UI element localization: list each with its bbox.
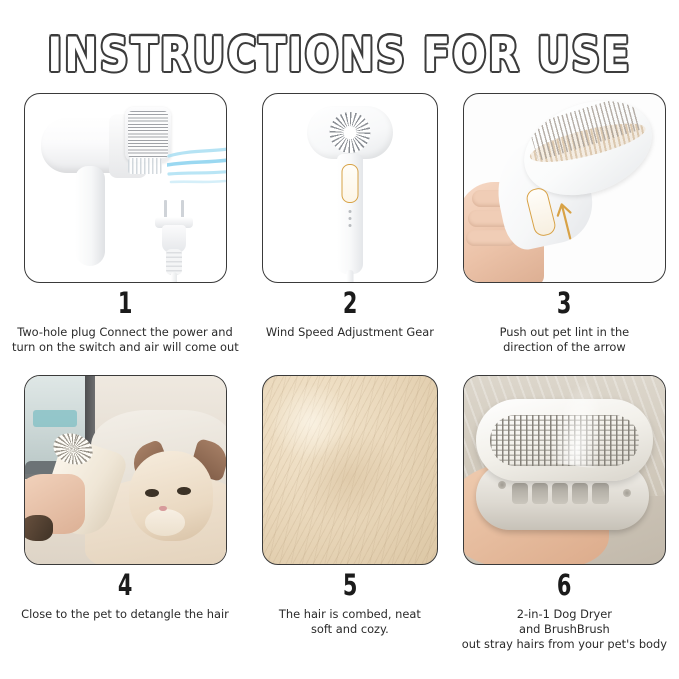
step-1-number: 1 (118, 289, 133, 318)
step-card-3: 3 Push out pet lint in the direction of … (450, 93, 679, 375)
cat-tail-shape (24, 515, 53, 541)
step-card-5: 5 The hair is combed, neat soft and cozy… (250, 375, 450, 657)
air-vent-icon (128, 158, 162, 174)
step-3-caption: Push out pet lint in the direction of th… (500, 325, 630, 355)
step-3-caption-line-1: Push out pet lint in the (500, 325, 630, 340)
step-card-4: 4 Close to the pet to detangle the hair (0, 375, 250, 657)
cat-snout-shape (145, 509, 185, 535)
wind-speed-button-icon[interactable] (341, 164, 358, 203)
step-4-illustration-panel (24, 375, 227, 565)
step-1-caption-line-1: Two-hole plug Connect the power and (12, 325, 238, 340)
step-4-caption-line-1: Close to the pet to detangle the hair (21, 607, 229, 622)
step-1-caption: Two-hole plug Connect the power and turn… (12, 325, 238, 355)
screw-icon (623, 489, 631, 497)
brush-teeth-icon (128, 111, 168, 158)
step-2-caption-line-1: Wind Speed Adjustment Gear (266, 325, 434, 340)
step-5-caption-line-1: The hair is combed, neat (279, 607, 421, 622)
step-5-number: 5 (343, 571, 358, 600)
step-2-illustration-panel (262, 93, 438, 283)
step-1-illustration-panel (24, 93, 227, 283)
step-1-caption-line-2: turn on the switch and air will come out (12, 340, 238, 355)
teal-accent-background (33, 410, 77, 427)
step-4-caption: Close to the pet to detangle the hair (21, 607, 229, 622)
page-title: INSTRUCTIONS FOR USE (0, 0, 679, 79)
fan-hub-icon (344, 127, 356, 139)
power-cord-icon (346, 270, 353, 283)
speed-indicator-dots-icon (348, 210, 351, 227)
step-6-caption-line-1: 2-in-1 Dog Dryer (462, 607, 667, 622)
step-3-illustration-panel (463, 93, 666, 283)
step-3-number: 3 (557, 289, 572, 318)
instruction-steps-grid: 1 Two-hole plug Connect the power and tu… (0, 93, 679, 657)
step-6-caption-line-2: and BrushBrush (462, 622, 667, 637)
step-5-caption: The hair is combed, neat soft and cozy. (279, 607, 421, 637)
step-3-caption-line-2: direction of the arrow (500, 340, 630, 355)
air-slots-icon (512, 483, 608, 504)
step-card-6: 6 2-in-1 Dog Dryer and BrushBrush out st… (450, 375, 679, 657)
brush-head-icon (125, 107, 171, 162)
step-6-illustration-panel (463, 375, 666, 565)
power-cord-icon (171, 272, 177, 283)
dryer-handle-icon (75, 166, 105, 266)
step-5-caption-line-2: soft and cozy. (279, 622, 421, 637)
step-2-number: 2 (343, 289, 358, 318)
step-2-caption: Wind Speed Adjustment Gear (266, 325, 434, 340)
step-6-caption-line-3: out stray hairs from your pet's body (462, 637, 667, 652)
step-4-number: 4 (118, 571, 133, 600)
step-6-number: 6 (557, 571, 572, 600)
step-5-illustration-panel (262, 375, 438, 565)
step-card-1: 1 Two-hole plug Connect the power and tu… (0, 93, 250, 375)
step-6-caption: 2-in-1 Dog Dryer and BrushBrush out stra… (462, 607, 667, 652)
step-card-2: 2 Wind Speed Adjustment Gear (250, 93, 450, 375)
airflow-icon (167, 146, 227, 188)
